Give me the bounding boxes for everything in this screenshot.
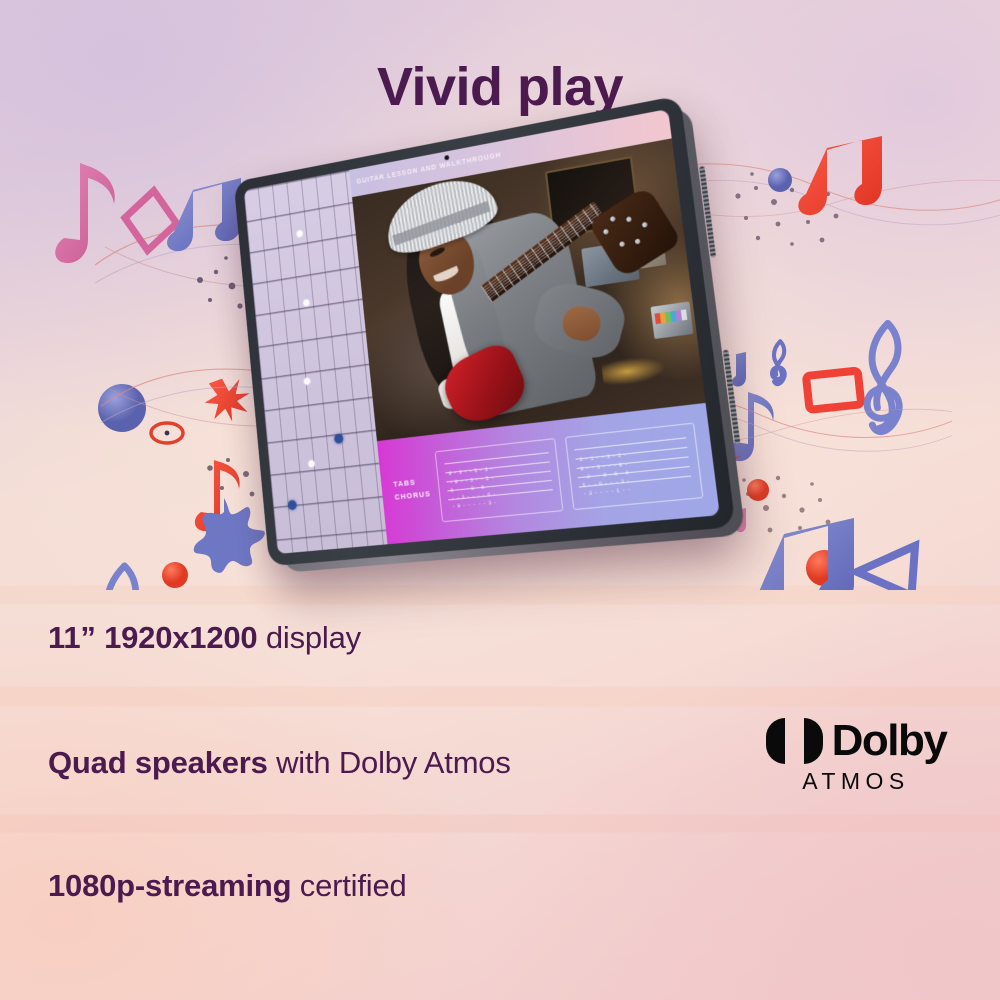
person-arm [529, 277, 631, 364]
tab-notation-card[interactable]: 3-1--3-2- 0--3---0- -2--0-6-0 5--0---3- … [564, 422, 703, 510]
decor-treble-clef-blue-right [867, 323, 899, 431]
feature-bold-text: 1080p-streaming [48, 868, 291, 903]
decor-treble-clef-blue-left [102, 566, 137, 590]
decor-sphere-red-left [162, 562, 188, 588]
speaker-grille-top [699, 166, 716, 258]
dolby-atmos-logo: Dolby ATMOS [740, 718, 972, 795]
feature-regular-text: display [257, 620, 361, 655]
shop-amp-keys [655, 309, 688, 324]
hero-section: GUITAR LESSON AND WALKTHROUGH [0, 130, 1000, 590]
decor-beamed-notes-red [798, 136, 882, 215]
guitar-frets [481, 201, 606, 303]
guitar-tuner [602, 228, 609, 235]
decor-sphere-blue-right [768, 168, 792, 192]
dolby-double-d-right-icon [799, 718, 823, 764]
feature-regular-text: with Dolby Atmos [268, 745, 511, 780]
dolby-logo-mark: Dolby [740, 718, 972, 764]
feature-regular-text: certified [291, 868, 406, 903]
shop-amp [650, 302, 693, 339]
decor-sphere-blue [98, 384, 146, 432]
decor-triangle-blue-right [856, 542, 915, 590]
shop-glow [601, 354, 666, 388]
decor-treble-clef-blue-small [772, 341, 785, 384]
tabs-label-group: TABS CHORUS [393, 475, 432, 505]
dolby-wordmark: Dolby [832, 720, 947, 762]
tablet-screen[interactable]: GUITAR LESSON AND WALKTHROUGH [244, 109, 720, 554]
guitar-tuner [641, 222, 648, 229]
lesson-app-panel: GUITAR LESSON AND WALKTHROUGH [349, 109, 720, 544]
tab-staff-lines [574, 438, 692, 496]
feature-row-display: 11” 1920x1200 display [48, 620, 361, 656]
tab-notation-numbers: 0-3--5-3- -0--3--5- 0---0-6-- --3----0- … [436, 439, 563, 521]
dolby-double-d-left-icon [766, 718, 790, 764]
feature-bold-text: Quad speakers [48, 745, 268, 780]
tablet-body: GUITAR LESSON AND WALKTHROUGH [234, 95, 736, 566]
fret-inlay [308, 460, 315, 467]
shop-shelf [545, 156, 640, 237]
feature-row-speakers: Quad speakers with Dolby Atmos [48, 745, 511, 781]
tab-staff-lines [444, 452, 554, 508]
guitar-tuner [618, 241, 625, 248]
tablet-device: GUITAR LESSON AND WALKTHROUGH [225, 134, 725, 564]
dolby-atmos-subtitle: ATMOS [740, 768, 972, 795]
decor-note-pink [55, 163, 115, 263]
guitar-tuner [626, 216, 633, 223]
page-title: Vivid play [0, 56, 1000, 118]
guitar-tuner [609, 216, 616, 223]
feature-row-streaming: 1080p-streaming certified [48, 868, 407, 904]
chorus-label: CHORUS [394, 488, 431, 505]
person-hand [560, 304, 603, 344]
shop-shelf [634, 231, 666, 269]
decor-oval-red [151, 423, 183, 443]
decor-rectangle-red [806, 371, 861, 410]
guitar-neck [481, 201, 606, 303]
guitar-strings [483, 203, 605, 300]
feature-bold-text: 11” 1920x1200 [48, 620, 257, 655]
tab-notation-numbers: 3-1--3-2- 0--3---0- -2--0-6-0 5--0---3- … [566, 424, 702, 510]
guitar-tuner [634, 238, 641, 245]
